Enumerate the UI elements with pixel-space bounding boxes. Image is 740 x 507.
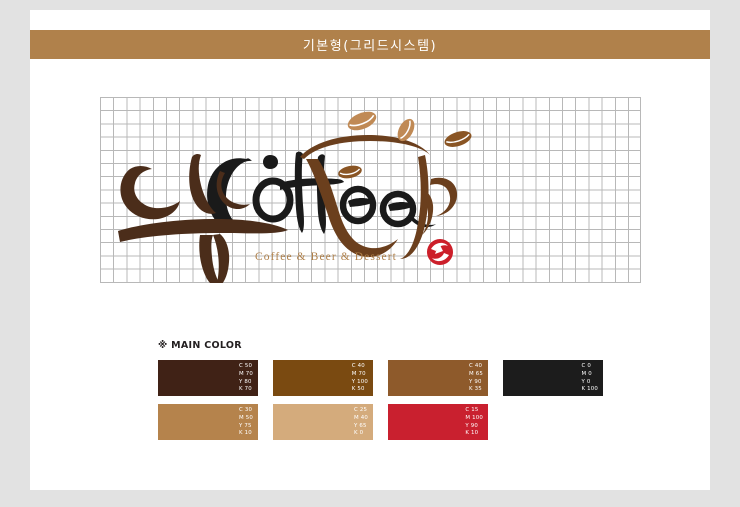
main-color-heading: ※ MAIN COLOR bbox=[158, 340, 242, 351]
logo-coffee-cup bbox=[300, 135, 457, 259]
swatch-code-y: Y 75 bbox=[239, 423, 253, 431]
swatch-row: C 50 M 70 Y 80 K 70 C 40 M 70 Y 100 K 50… bbox=[158, 360, 612, 396]
color-swatch[interactable]: C 50 M 70 Y 80 K 70 bbox=[158, 360, 258, 396]
swatch-codes: C 40 M 65 Y 90 K 35 bbox=[469, 363, 483, 394]
swatch-row: C 30 M 50 Y 75 K 10 C 25 M 40 Y 65 K 0 C… bbox=[158, 404, 612, 440]
swatch-code-c: C 25 bbox=[354, 407, 368, 415]
header-bar: 기본형(그리드시스템) bbox=[30, 30, 710, 59]
color-swatch[interactable]: C 30 M 50 Y 75 K 10 bbox=[158, 404, 258, 440]
color-swatch[interactable]: C 40 M 65 Y 90 K 35 bbox=[388, 360, 488, 396]
swatch-code-m: M 70 bbox=[352, 371, 368, 379]
swatch-code-m: M 65 bbox=[469, 371, 483, 379]
swatch-code-y: Y 0 bbox=[581, 379, 598, 387]
swatch-codes: C 30 M 50 Y 75 K 10 bbox=[239, 407, 253, 438]
page-title: 기본형(그리드시스템) bbox=[303, 35, 437, 54]
swatch-code-m: M 0 bbox=[581, 371, 598, 379]
logo-tagline: Coffee & Beer & Dessert bbox=[255, 251, 397, 263]
swatch-code-k: K 35 bbox=[469, 386, 483, 394]
color-swatch[interactable]: C 25 M 40 Y 65 K 0 bbox=[273, 404, 373, 440]
main-color-swatch-grid: C 50 M 70 Y 80 K 70 C 40 M 70 Y 100 K 50… bbox=[158, 360, 612, 448]
swatch-code-c: C 40 bbox=[352, 363, 368, 371]
swatch-code-y: Y 90 bbox=[469, 379, 483, 387]
swatch-codes: C 50 M 70 Y 80 K 70 bbox=[239, 363, 253, 394]
swatch-code-k: K 10 bbox=[239, 430, 253, 438]
swatch-code-m: M 50 bbox=[239, 415, 253, 423]
swatch-code-k: K 10 bbox=[465, 430, 483, 438]
swatch-code-c: C 50 bbox=[239, 363, 253, 371]
swatch-codes: C 40 M 70 Y 100 K 50 bbox=[352, 363, 368, 394]
presentation-page: 기본형(그리드시스템) bbox=[30, 10, 710, 490]
swatch-codes: C 15 M 100 Y 90 K 10 bbox=[465, 407, 483, 438]
color-swatch[interactable]: C 40 M 70 Y 100 K 50 bbox=[273, 360, 373, 396]
swatch-codes: C 25 M 40 Y 65 K 0 bbox=[354, 407, 368, 438]
swatch-code-c: C 15 bbox=[465, 407, 483, 415]
swatch-code-k: K 0 bbox=[354, 430, 368, 438]
swatch-code-y: Y 90 bbox=[465, 423, 483, 431]
swatch-code-y: Y 100 bbox=[352, 379, 368, 387]
swatch-codes: C 0 M 0 Y 0 K 100 bbox=[581, 363, 598, 394]
swatch-code-c: C 0 bbox=[581, 363, 598, 371]
swatch-code-k: K 100 bbox=[581, 386, 598, 394]
swatch-code-y: Y 65 bbox=[354, 423, 368, 431]
color-swatch[interactable]: C 15 M 100 Y 90 K 10 bbox=[388, 404, 488, 440]
swatch-code-y: Y 80 bbox=[239, 379, 253, 387]
swatch-code-k: K 50 bbox=[352, 386, 368, 394]
swatch-code-k: K 70 bbox=[239, 386, 253, 394]
swatch-code-c: C 30 bbox=[239, 407, 253, 415]
logo-emblem bbox=[427, 239, 453, 265]
color-swatch[interactable]: C 0 M 0 Y 0 K 100 bbox=[503, 360, 603, 396]
logo-stage: Coffee & Beer & Dessert bbox=[100, 97, 641, 283]
grid-artboard: Coffee & Beer & Dessert bbox=[100, 97, 641, 283]
swatch-code-m: M 40 bbox=[354, 415, 368, 423]
swatch-code-c: C 40 bbox=[469, 363, 483, 371]
swatch-code-m: M 70 bbox=[239, 371, 253, 379]
swatch-code-m: M 100 bbox=[465, 415, 483, 423]
